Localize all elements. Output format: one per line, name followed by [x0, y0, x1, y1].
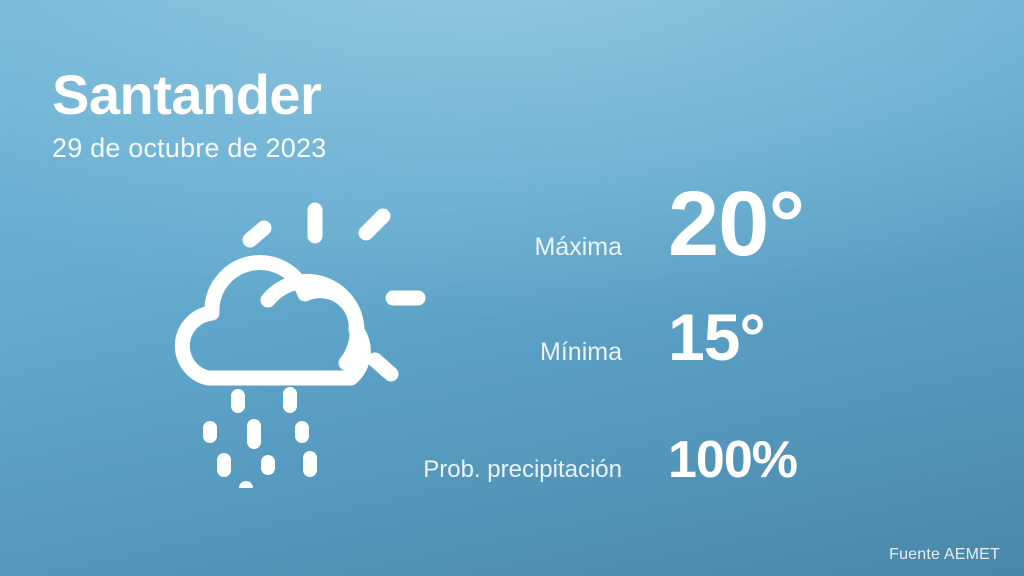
cloud-icon [182, 263, 363, 378]
rain-drops-icon [210, 394, 310, 488]
reading-row-maxima: Máxima 20° [400, 178, 960, 282]
reading-row-minima: Mínima 15° [400, 304, 960, 408]
source-attribution: Fuente AEMET [889, 546, 1000, 564]
reading-value-minima: 15° [668, 304, 765, 370]
reading-label-maxima: Máxima [400, 233, 668, 262]
reading-label-minima: Mínima [400, 338, 668, 367]
sun-behind-cloud-with-drizzle-icon [150, 188, 440, 488]
weather-card: Santander 29 de octubre de 2023 [0, 0, 1024, 576]
page-title: Santander [52, 64, 326, 127]
readings-panel: Máxima 20° Mínima 15° Prob. precipitació… [400, 178, 960, 504]
header: Santander 29 de octubre de 2023 [52, 64, 326, 164]
reading-value-precipitacion: 100% [668, 434, 797, 486]
reading-label-precipitacion: Prob. precipitación [400, 456, 668, 484]
forecast-date: 29 de octubre de 2023 [52, 133, 326, 164]
reading-row-precipitacion: Prob. precipitación 100% [400, 434, 960, 504]
reading-value-maxima: 20° [668, 178, 804, 270]
